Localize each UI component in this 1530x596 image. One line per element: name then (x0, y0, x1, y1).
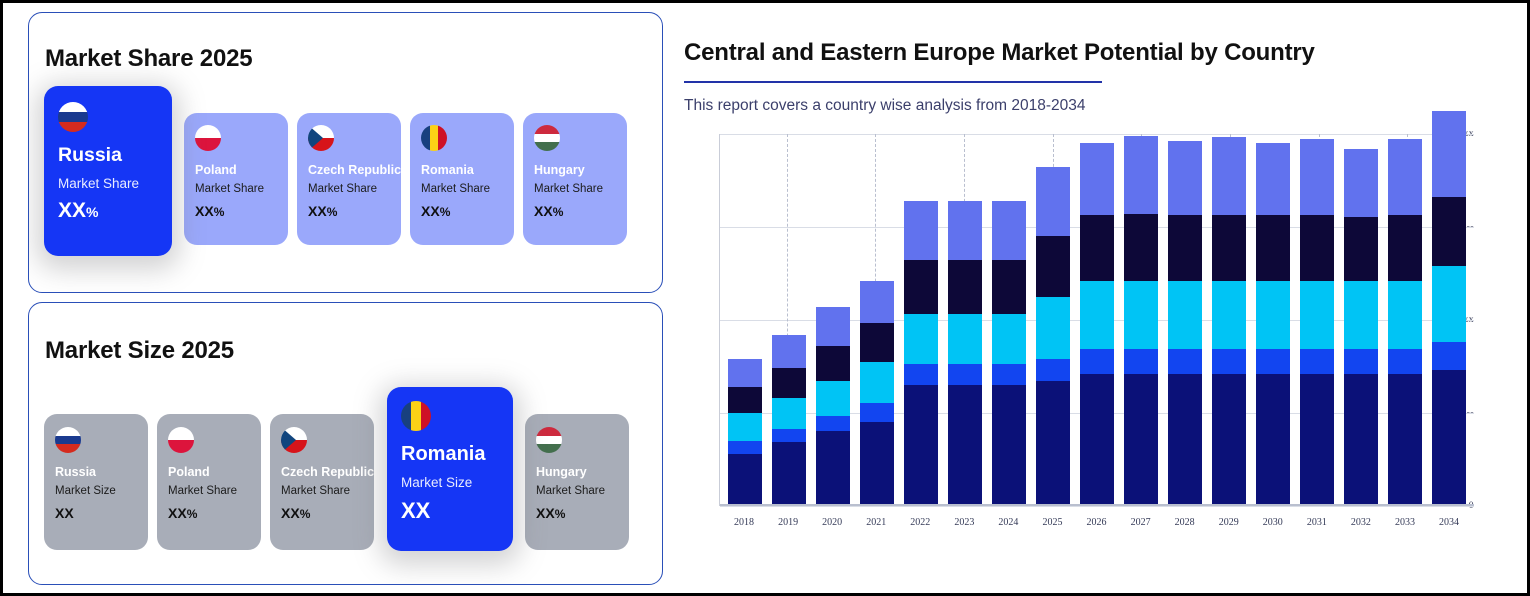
bar-segment-series-2 (860, 403, 894, 422)
bar-segment-series-5 (1080, 143, 1114, 216)
metric-label: Market Share (281, 485, 364, 497)
bar-segment-series-4 (1124, 214, 1158, 281)
left-column: Market Share 2025 RussiaMarket ShareXX%P… (3, 3, 666, 593)
metric-number: XX (55, 505, 74, 521)
bar-segment-series-1 (1036, 381, 1070, 506)
market-size-title: Market Size 2025 (45, 337, 662, 365)
bar-segment-series-3 (1080, 281, 1114, 350)
flag-band (55, 444, 81, 453)
bar-segment-series-5 (860, 281, 894, 324)
metric-value: XX% (308, 203, 391, 219)
country-name: Czech Republic (308, 163, 391, 177)
metric-value: XX% (421, 203, 504, 219)
bar-segment-series-4 (1300, 215, 1334, 280)
flag-band (411, 401, 421, 431)
bar-segment-series-3 (816, 381, 850, 416)
metric-label: Market Share (195, 183, 278, 195)
hungary-flag-icon (534, 125, 560, 151)
bar-segment-series-2 (1432, 342, 1466, 370)
flag-band (58, 122, 88, 132)
russia-flag-icon (58, 102, 88, 132)
metric-value: XX% (536, 505, 619, 521)
bar-segment-series-5 (1300, 139, 1334, 215)
bar-segment-series-2 (1080, 349, 1114, 373)
bar-segment-series-4 (1212, 215, 1246, 280)
metric-suffix: % (86, 204, 98, 220)
poland-flag-icon (168, 427, 194, 453)
bar-segment-series-2 (1212, 349, 1246, 373)
metric-value: XX% (195, 203, 278, 219)
plot-area (719, 134, 1474, 506)
x-axis-tick-label: 2028 (1168, 517, 1202, 528)
screenshot-frame: Market Share 2025 RussiaMarket ShareXX%P… (0, 0, 1530, 596)
bar-segment-series-4 (1432, 197, 1466, 266)
romania-flag-icon (401, 401, 431, 431)
country-card-poland[interactable]: PolandMarket ShareXX% (184, 113, 288, 245)
x-axis-tick-label: 2026 (1080, 517, 1114, 528)
metric-number: XX (168, 505, 187, 521)
metric-label: Market Share (308, 183, 391, 195)
country-card-romania[interactable]: RomaniaMarket SizeXX (387, 387, 513, 551)
bar-segment-series-5 (1212, 137, 1246, 215)
country-name: Romania (401, 443, 501, 466)
bar-column[interactable] (860, 281, 894, 506)
metric-label: Market Share (421, 183, 504, 195)
x-axis-tick-label: 2021 (859, 517, 893, 528)
title-underline-rule (684, 81, 1102, 83)
bar-segment-series-2 (1300, 349, 1334, 373)
x-axis-tick-label: 2020 (815, 517, 849, 528)
romania-flag-icon (421, 125, 447, 151)
bar-segment-series-5 (948, 201, 982, 261)
bar-segment-series-3 (728, 413, 762, 441)
metric-label: Market Share (168, 485, 251, 497)
flag-band (281, 427, 296, 453)
gridline (720, 506, 1474, 507)
metric-number: XX (308, 203, 327, 219)
market-size-card-row: RussiaMarket SizeXXPolandMarket ShareXX%… (44, 387, 662, 551)
country-card-russia[interactable]: RussiaMarket SizeXX (44, 414, 148, 550)
bar-segment-series-4 (1344, 217, 1378, 280)
flag-band (438, 125, 447, 151)
bar-segment-series-5 (1388, 139, 1422, 215)
bar-segment-series-2 (1256, 349, 1290, 373)
country-name: Romania (421, 163, 504, 177)
bar-segment-series-2 (1168, 349, 1202, 373)
bar-segment-series-5 (816, 307, 850, 346)
bar-column[interactable] (948, 201, 982, 506)
country-card-hungary[interactable]: HungaryMarket ShareXX% (525, 414, 629, 550)
bar-segment-series-1 (992, 385, 1026, 506)
metric-number: XX (195, 203, 214, 219)
bar-segment-series-1 (1388, 374, 1422, 506)
metric-value: XX (401, 498, 501, 524)
stacked-bar-chart: 0-----xxx-----xxx 2018201920202021202220… (684, 134, 1474, 534)
bar-column[interactable] (1300, 139, 1334, 505)
bar-segment-series-3 (1344, 281, 1378, 350)
bar-segment-series-4 (992, 260, 1026, 314)
bar-segment-series-4 (1256, 215, 1290, 280)
flag-band (534, 142, 560, 151)
bar-column[interactable] (728, 359, 762, 506)
bar-segment-series-3 (1300, 281, 1334, 350)
bar-segment-series-1 (1344, 374, 1378, 506)
metric-label: Market Share (536, 485, 619, 497)
bar-column[interactable] (816, 307, 850, 506)
bar-segment-series-5 (1432, 111, 1466, 197)
bar-column[interactable] (1432, 111, 1466, 505)
flag-band (401, 401, 411, 431)
x-axis-tick-label: 2031 (1300, 517, 1334, 528)
x-axis-tick-label: 2025 (1035, 517, 1069, 528)
country-name: Czech Republic (281, 465, 364, 479)
bar-segment-series-2 (772, 429, 806, 442)
bar-segment-series-5 (1036, 167, 1070, 236)
country-name: Russia (55, 465, 138, 479)
bar-segment-series-1 (728, 454, 762, 506)
x-axis-tick-label: 2032 (1344, 517, 1378, 528)
bar-segment-series-1 (772, 442, 806, 505)
bar-segment-series-3 (860, 362, 894, 403)
bar-segment-series-3 (1124, 281, 1158, 350)
metric-number: XX (421, 203, 440, 219)
bar-segment-series-2 (1388, 349, 1422, 373)
country-card-poland[interactable]: PolandMarket ShareXX% (157, 414, 261, 550)
x-axis-tick-label: 2022 (903, 517, 937, 528)
x-axis-tick-label: 2027 (1124, 517, 1158, 528)
x-axis-tick-label: 2030 (1256, 517, 1290, 528)
chart-title: Central and Eastern Europe Market Potent… (684, 39, 1489, 67)
czech-flag-icon (308, 125, 334, 151)
metric-label: Market Size (401, 475, 501, 490)
bar-segment-series-5 (1124, 136, 1158, 214)
flag-band (534, 134, 560, 143)
poland-flag-icon (195, 125, 221, 151)
bar-segment-series-3 (904, 314, 938, 364)
x-axis-tick-label: 2034 (1432, 517, 1466, 528)
metric-suffix: % (555, 507, 566, 521)
flag-band (58, 112, 88, 122)
country-name: Hungary (534, 163, 617, 177)
bar-segment-series-5 (1168, 141, 1202, 215)
bar-column[interactable] (1168, 141, 1202, 506)
bar-segment-series-2 (948, 364, 982, 384)
metric-label: Market Share (534, 183, 617, 195)
bar-segment-series-4 (816, 346, 850, 381)
market-size-panel: Market Size 2025 RussiaMarket SizeXXPola… (28, 302, 663, 585)
metric-value: XX (55, 505, 138, 521)
country-name: Hungary (536, 465, 619, 479)
bar-segment-series-5 (1256, 143, 1290, 216)
x-axis-baseline (720, 504, 1474, 506)
country-name: Poland (195, 163, 278, 177)
x-axis-tick-label: 2029 (1212, 517, 1246, 528)
bar-segment-series-3 (1432, 266, 1466, 342)
flag-band (308, 125, 323, 151)
bar-column[interactable] (904, 201, 938, 506)
flag-band (55, 436, 81, 445)
russia-flag-icon (55, 427, 81, 453)
metric-label: Market Size (55, 485, 138, 497)
bar-segment-series-1 (1432, 370, 1466, 506)
bar-segment-series-2 (728, 441, 762, 454)
country-name: Poland (168, 465, 251, 479)
country-card-romania[interactable]: RomaniaMarket ShareXX% (410, 113, 514, 245)
czech-flag-icon (281, 427, 307, 453)
bar-segment-series-1 (948, 385, 982, 506)
country-card-russia[interactable]: RussiaMarket ShareXX% (44, 86, 172, 256)
x-axis-tick-label: 2033 (1388, 517, 1422, 528)
bar-segment-series-4 (1036, 236, 1070, 297)
bar-segment-series-4 (904, 260, 938, 314)
metric-label: Market Share (58, 176, 160, 191)
metric-number: XX (58, 199, 86, 222)
bar-segment-series-1 (1080, 374, 1114, 506)
bar-segment-series-1 (1300, 374, 1334, 506)
bar-segment-series-3 (1168, 281, 1202, 350)
bar-column[interactable] (1080, 143, 1114, 506)
flag-band (55, 427, 81, 436)
flag-band (168, 427, 194, 440)
bar-segment-series-2 (1036, 359, 1070, 381)
metric-number: XX (401, 498, 430, 523)
bar-segment-series-1 (1256, 374, 1290, 506)
market-share-title: Market Share 2025 (45, 45, 662, 73)
bar-segment-series-5 (1344, 149, 1378, 218)
bar-segment-series-1 (904, 385, 938, 506)
x-axis-tick-label: 2018 (727, 517, 761, 528)
bar-segment-series-5 (904, 201, 938, 261)
metric-suffix: % (327, 205, 338, 219)
bar-segment-series-3 (992, 314, 1026, 364)
bar-segment-series-3 (948, 314, 982, 364)
bar-segment-series-2 (1344, 349, 1378, 373)
x-axis-labels: 2018201920202021202220232024202520262027… (727, 517, 1466, 528)
bar-segment-series-3 (1036, 297, 1070, 358)
x-axis-tick-label: 2019 (771, 517, 805, 528)
metric-number: XX (281, 505, 300, 521)
metric-suffix: % (300, 507, 311, 521)
flag-band (536, 427, 562, 436)
flag-band (421, 125, 430, 151)
bar-column[interactable] (992, 201, 1026, 506)
metric-number: XX (534, 203, 553, 219)
flag-band (430, 125, 439, 151)
country-name: Russia (58, 144, 160, 167)
chart-subtitle: This report covers a country wise analys… (684, 97, 1489, 115)
x-axis-tick-label: 2024 (991, 517, 1025, 528)
bar-segment-series-1 (1168, 374, 1202, 506)
bar-segment-series-4 (772, 368, 806, 398)
bar-column[interactable] (1212, 137, 1246, 505)
bar-segment-series-5 (728, 359, 762, 387)
chart-column: Central and Eastern Europe Market Potent… (666, 3, 1527, 593)
flag-band (536, 444, 562, 453)
bar-segment-series-3 (772, 398, 806, 430)
country-card-czech-republic[interactable]: Czech RepublicMarket ShareXX% (297, 113, 401, 245)
bar-segment-series-1 (1212, 374, 1246, 506)
bar-segment-series-1 (816, 431, 850, 505)
flag-band (536, 436, 562, 445)
metric-suffix: % (553, 205, 564, 219)
bar-segment-series-2 (992, 364, 1026, 384)
bar-segment-series-5 (992, 201, 1026, 261)
flag-band (168, 440, 194, 453)
metric-suffix: % (214, 205, 225, 219)
hungary-flag-icon (536, 427, 562, 453)
bar-column[interactable] (1388, 139, 1422, 505)
bar-segment-series-2 (816, 416, 850, 431)
bar-column[interactable] (1124, 136, 1158, 506)
bar-segment-series-4 (948, 260, 982, 314)
bar-segment-series-1 (1124, 374, 1158, 506)
metric-value: XX% (534, 203, 617, 219)
bar-series-container (728, 134, 1466, 506)
flag-band (534, 125, 560, 134)
bar-column[interactable] (1036, 167, 1070, 505)
flag-band (58, 102, 88, 112)
flag-band (195, 125, 221, 138)
bar-segment-series-4 (860, 323, 894, 362)
metric-number: XX (536, 505, 555, 521)
metric-value: XX% (58, 199, 160, 223)
flag-band (195, 138, 221, 151)
bar-segment-series-3 (1388, 281, 1422, 350)
bar-segment-series-3 (1256, 281, 1290, 350)
bar-column[interactable] (772, 335, 806, 506)
x-axis-tick-label: 2023 (947, 517, 981, 528)
country-card-hungary[interactable]: HungaryMarket ShareXX% (523, 113, 627, 245)
bar-segment-series-4 (728, 387, 762, 413)
bar-column[interactable] (1344, 149, 1378, 506)
bar-segment-series-5 (772, 335, 806, 368)
bar-segment-series-4 (1080, 215, 1114, 280)
bar-segment-series-4 (1388, 215, 1422, 280)
metric-value: XX% (168, 505, 251, 521)
bar-segment-series-4 (1168, 215, 1202, 280)
metric-value: XX% (281, 505, 364, 521)
metric-suffix: % (440, 205, 451, 219)
bar-segment-series-3 (1212, 281, 1246, 350)
market-share-card-row: RussiaMarket ShareXX%PolandMarket ShareX… (44, 86, 662, 256)
market-share-panel: Market Share 2025 RussiaMarket ShareXX%P… (28, 12, 663, 293)
bar-column[interactable] (1256, 143, 1290, 506)
metric-suffix: % (187, 507, 198, 521)
bar-segment-series-2 (1124, 349, 1158, 373)
flag-band (421, 401, 431, 431)
country-card-czech-republic[interactable]: Czech RepublicMarket ShareXX% (270, 414, 374, 550)
bar-segment-series-1 (860, 422, 894, 506)
bar-segment-series-2 (904, 364, 938, 384)
